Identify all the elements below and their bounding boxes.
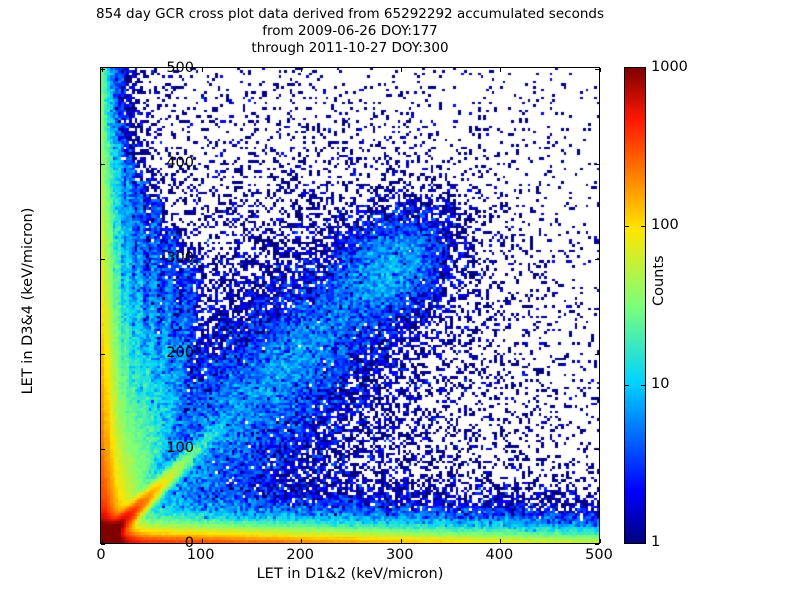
y-tick-mark [595, 69, 599, 70]
x-axis-label: LET in D1&2 (keV/micron) [100, 566, 600, 582]
x-tick-mark [401, 539, 402, 543]
colorbar-tick-label: 1 [651, 535, 660, 550]
x-tick-mark [102, 539, 103, 543]
x-tick-label: 0 [71, 548, 131, 563]
x-tick-label: 400 [469, 548, 529, 563]
x-tick-mark [401, 68, 402, 72]
y-tick-mark [101, 164, 105, 165]
x-tick-mark [102, 68, 103, 72]
y-tick-mark [595, 164, 599, 165]
y-tick-mark [595, 449, 599, 450]
y-tick-label: 200 [114, 346, 194, 361]
plot-area [100, 67, 600, 544]
colorbar [624, 67, 646, 544]
chart-title: 854 day GCR cross plot data derived from… [0, 6, 700, 57]
chart-title-line-1: 854 day GCR cross plot data derived from… [0, 6, 700, 23]
y-tick-mark [101, 354, 105, 355]
y-tick-mark [595, 259, 599, 260]
colorbar-gradient [625, 68, 645, 543]
x-tick-label: 200 [270, 548, 330, 563]
x-tick-mark [202, 68, 203, 72]
x-tick-mark [500, 539, 501, 543]
x-tick-mark [301, 68, 302, 72]
x-tick-mark [600, 539, 601, 543]
x-tick-mark [202, 539, 203, 543]
x-tick-mark [301, 539, 302, 543]
colorbar-tick-mark [641, 385, 645, 386]
x-tick-mark [500, 68, 501, 72]
y-tick-mark [101, 544, 105, 545]
y-tick-mark [101, 259, 105, 260]
y-tick-label: 500 [114, 61, 194, 76]
x-tick-label: 300 [370, 548, 430, 563]
x-tick-mark [600, 68, 601, 72]
colorbar-tick-label: 10 [651, 377, 669, 392]
colorbar-tick-label: 100 [651, 218, 679, 233]
colorbar-tick-mark [625, 385, 629, 386]
y-tick-label: 300 [114, 251, 194, 266]
y-tick-mark [101, 449, 105, 450]
y-tick-mark [595, 544, 599, 545]
chart-title-line-3: through 2011-10-27 DOY:300 [0, 40, 700, 57]
x-tick-label: 500 [569, 548, 629, 563]
y-tick-mark [595, 354, 599, 355]
y-tick-label: 100 [114, 441, 194, 456]
colorbar-label: Counts [651, 255, 667, 306]
colorbar-tick-mark [625, 226, 629, 227]
y-axis-label: LET in D3&4 (keV/micron) [20, 62, 36, 540]
colorbar-tick-mark [641, 226, 645, 227]
density-heatmap-canvas [101, 68, 599, 543]
y-tick-label: 400 [114, 156, 194, 171]
colorbar-tick-label: 1000 [651, 60, 688, 75]
x-tick-label: 100 [171, 548, 231, 563]
chart-title-line-2: from 2009-06-26 DOY:177 [0, 23, 700, 40]
